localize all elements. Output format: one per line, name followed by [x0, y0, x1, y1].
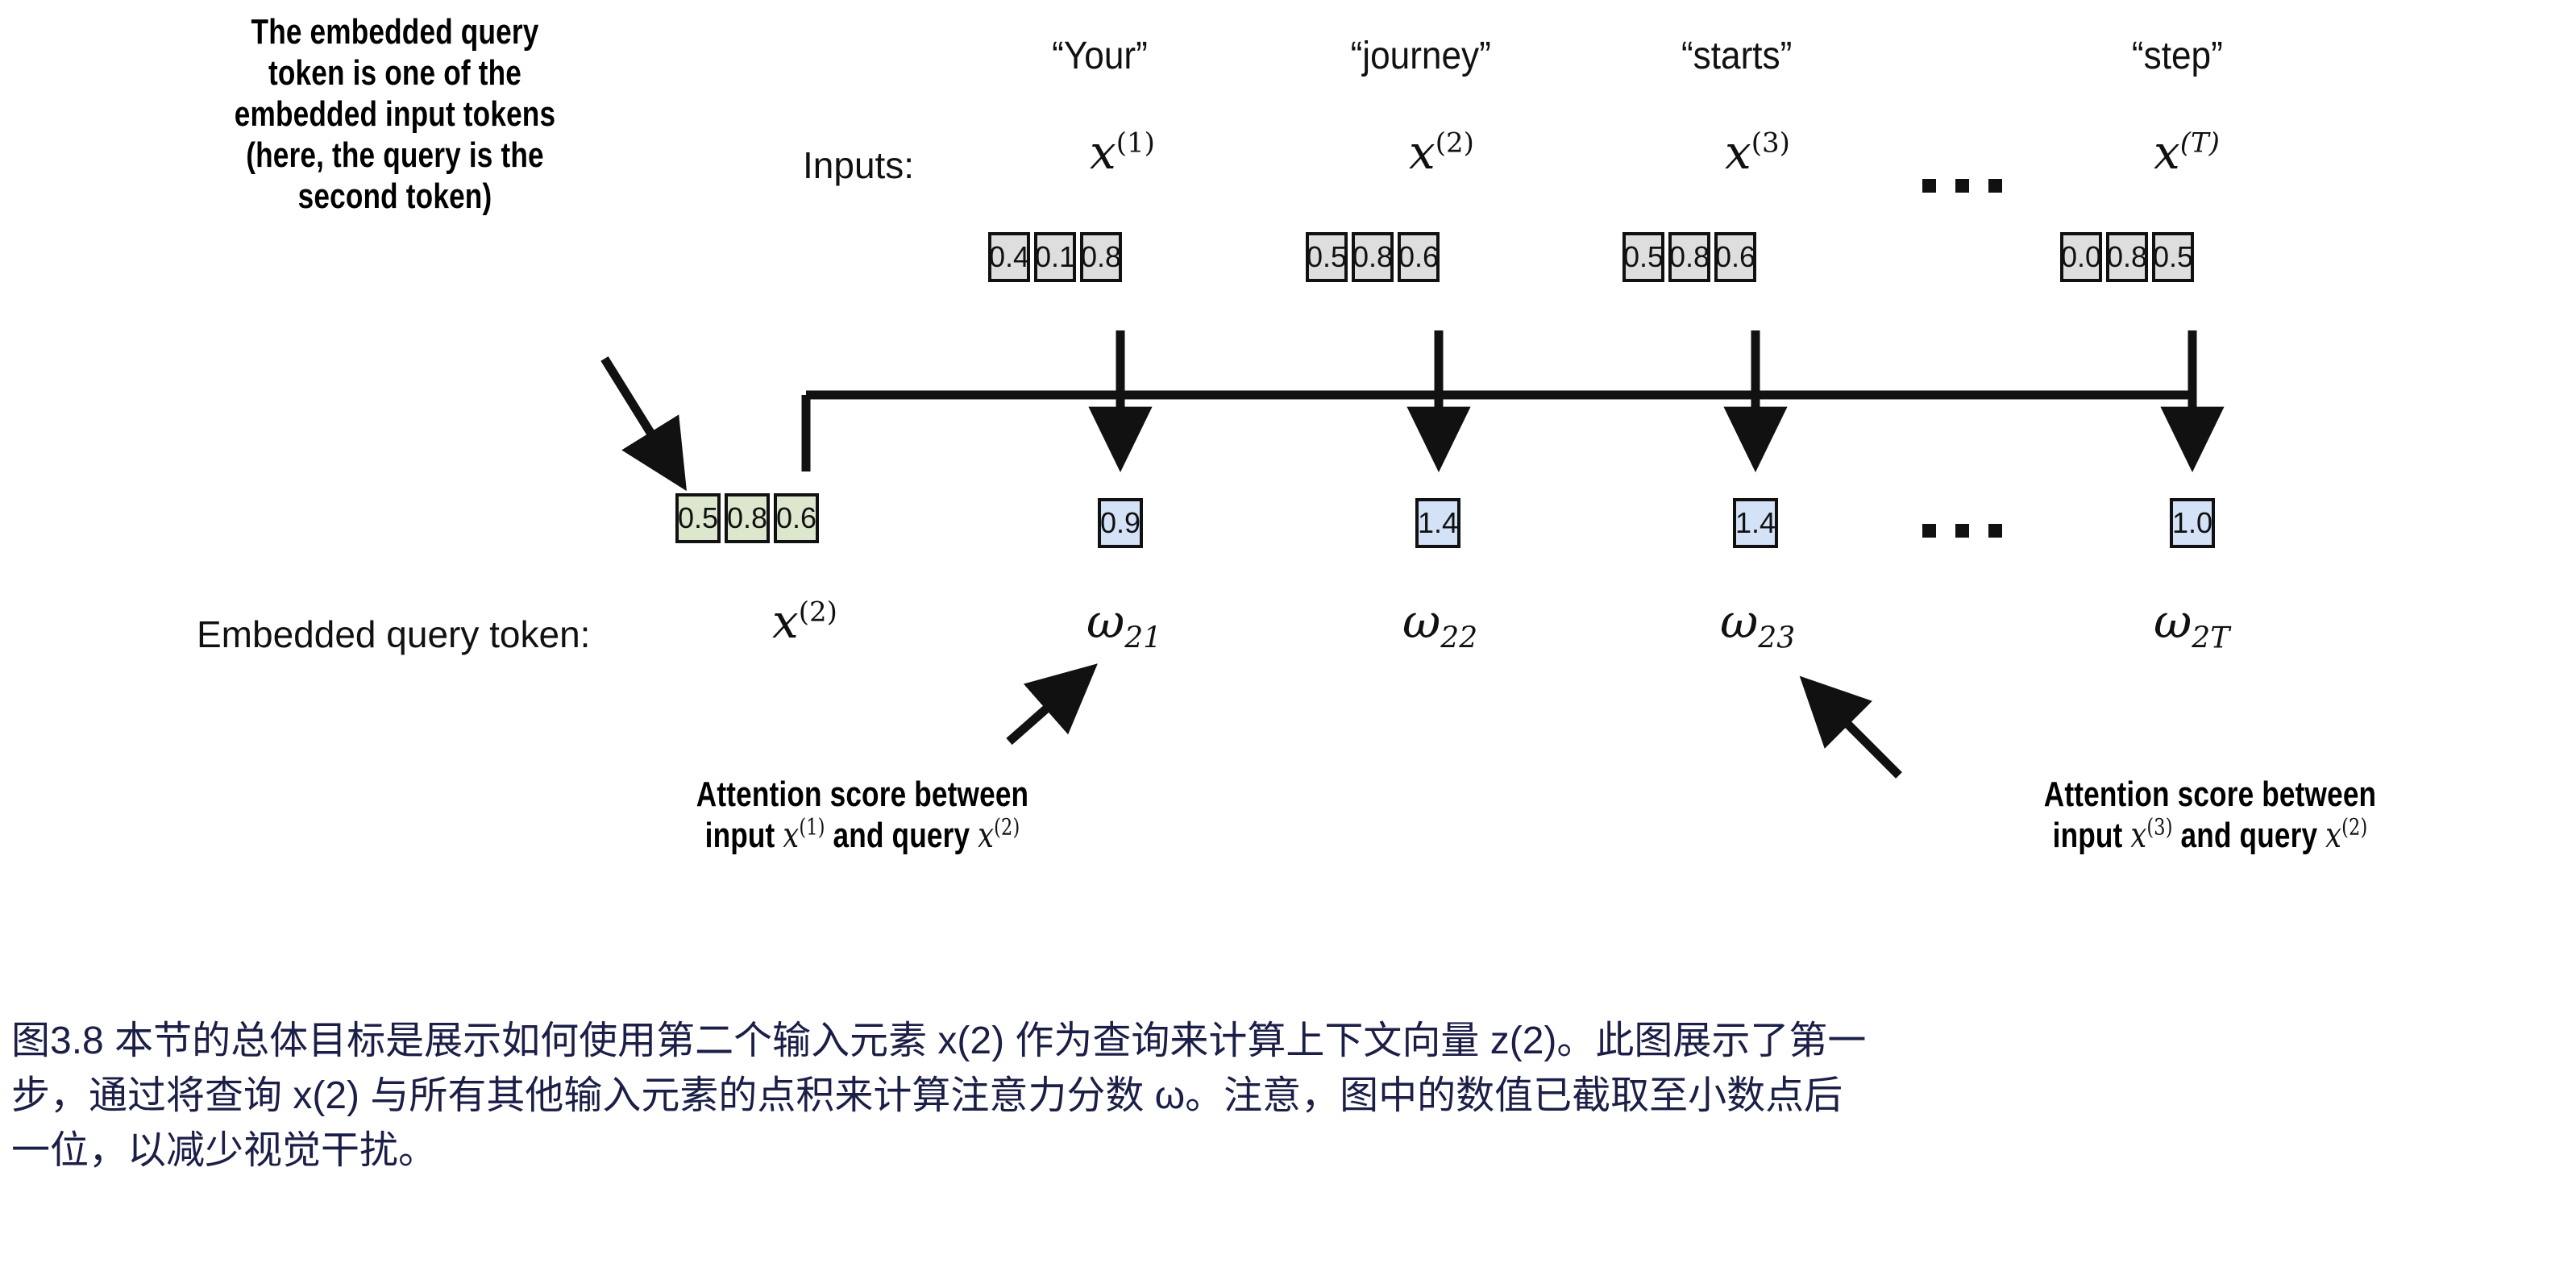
- input-symbol-4: x(T): [2154, 129, 2220, 176]
- query-vector: 0.5 0.8 0.6: [675, 493, 819, 543]
- callout-score-left-line-2: input x(1) and query x(2): [617, 815, 1107, 856]
- score-symbol-1-sub: 21: [1124, 622, 1161, 655]
- caption-line-2: 步，通过将查询 x(2) 与所有其他输入元素的点积来计算注意力分数 ω。注意，图…: [11, 1069, 2566, 1124]
- score-left-note-arrow: [1009, 671, 1090, 742]
- callout-score-right-line-2: input x(3) and query x(2): [1939, 815, 2481, 856]
- callout-query-note: The embedded query token is one of the e…: [53, 11, 737, 217]
- figure-caption: 图3.8 本节的总体目标是展示如何使用第二个输入元素 x(2) 作为查询来计算上…: [11, 1014, 2566, 1178]
- callout-score-left-x1: x(1): [783, 815, 825, 856]
- callout-score-right-mid: and query: [2173, 816, 2326, 855]
- score-symbol-2-sub: 22: [1440, 622, 1477, 655]
- score-symbol-4: ω2T: [2154, 598, 2229, 654]
- figure-canvas: The embedded query token is one of the e…: [0, 0, 2576, 1267]
- input-cell: 0.0: [2060, 232, 2102, 282]
- callout-score-right-line-1: Attention score between: [1939, 774, 2481, 815]
- input-symbol-2-base: x: [1409, 125, 1435, 180]
- input-symbol-4-sup-text: (T): [2180, 127, 2220, 160]
- callout-score-left-x2: x(2): [978, 815, 1020, 856]
- input-cell: 0.1: [1034, 232, 1076, 282]
- score-cell: 1.4: [1733, 498, 1778, 548]
- score-cell: 1.4: [1415, 498, 1460, 548]
- ellipsis-dot: [1988, 179, 2002, 193]
- score-symbol-2-base: ω: [1402, 594, 1440, 649]
- callout-score-left-pre: input: [705, 816, 783, 855]
- callout-query-note-line-5: second token): [53, 176, 737, 217]
- input-word-1: “Your”: [1052, 34, 1148, 78]
- input-vector-4: 0.0 0.8 0.5: [2060, 232, 2194, 282]
- query-note-arrow: [605, 359, 681, 482]
- input-symbol-1: x(1): [1090, 129, 1155, 176]
- input-symbol-4-sup: (T): [2180, 127, 2220, 160]
- input-symbol-2: x(2): [1409, 129, 1474, 176]
- score-symbol-1-base: ω: [1086, 594, 1124, 649]
- input-cell: 0.6: [1398, 232, 1440, 282]
- input-cell: 0.8: [1080, 232, 1122, 282]
- input-vector-2: 0.5 0.8 0.6: [1306, 232, 1440, 282]
- score-right-note-arrow: [1807, 683, 1899, 775]
- query-cell: 0.8: [725, 493, 770, 543]
- callout-score-right-x2: x(2): [2325, 815, 2367, 856]
- input-cell: 0.5: [1306, 232, 1348, 282]
- callout-score-right-x2-base: x: [2325, 815, 2341, 856]
- input-cell: 0.8: [1668, 232, 1710, 282]
- input-symbol-3: x(3): [1725, 129, 1790, 176]
- callout-query-note-line-2: token is one of the: [53, 52, 737, 93]
- input-word-4: “step”: [2132, 34, 2223, 78]
- caption-line-3: 一位，以减少视觉干扰。: [11, 1124, 2566, 1178]
- callout-score-right-x1-sup: (3): [2146, 813, 2172, 840]
- callout-score-right-x1: x(3): [2130, 815, 2172, 856]
- query-symbol-base: x: [772, 594, 799, 649]
- score-symbol-2: ω22: [1402, 598, 1477, 654]
- score-cell: 1.0: [2170, 498, 2215, 548]
- query-cell: 0.6: [774, 493, 819, 543]
- callout-score-right-x2-sup: (2): [2341, 813, 2367, 840]
- callout-score-left-x1-base: x: [783, 815, 799, 856]
- score-symbol-4-sub: 2T: [2192, 622, 2229, 655]
- caption-line-1: 图3.8 本节的总体目标是展示如何使用第二个输入元素 x(2) 作为查询来计算上…: [11, 1014, 2566, 1069]
- input-vector-3: 0.5 0.8 0.6: [1622, 232, 1756, 282]
- score-box-4: 1.0: [2170, 498, 2215, 548]
- score-box-3: 1.4: [1733, 498, 1778, 548]
- input-to-score-arrows: [1120, 330, 2192, 463]
- score-symbol-3: ω23: [1720, 598, 1795, 654]
- query-cell: 0.5: [675, 493, 721, 543]
- query-symbol: x(2): [772, 598, 837, 645]
- distribution-bus: [806, 395, 2192, 471]
- input-cell: 0.5: [1622, 232, 1664, 282]
- input-cell: 0.5: [2152, 232, 2194, 282]
- scores-ellipsis: [1922, 524, 2002, 538]
- callout-query-note-line-4: (here, the query is the: [53, 135, 737, 176]
- score-symbol-1: ω21: [1086, 598, 1161, 654]
- score-box-1: 0.9: [1098, 498, 1143, 548]
- input-vector-1: 0.4 0.1 0.8: [988, 232, 1122, 282]
- inputs-label: Inputs:: [803, 143, 914, 187]
- score-symbol-3-base: ω: [1720, 594, 1758, 649]
- callout-score-left-line-1: Attention score between: [617, 774, 1107, 815]
- embedded-query-token-label: Embedded query token:: [197, 613, 590, 656]
- callout-score-left-x2-base: x: [978, 815, 994, 856]
- ellipsis-dot: [1988, 524, 2002, 538]
- score-box-2: 1.4: [1415, 498, 1460, 548]
- callout-query-note-line-3: embedded input tokens: [53, 93, 737, 135]
- input-word-2: “journey”: [1351, 34, 1491, 78]
- query-symbol-sup: (2): [799, 596, 837, 629]
- input-symbol-1-sup: (1): [1116, 127, 1155, 160]
- input-symbol-3-sup: (3): [1751, 127, 1790, 160]
- input-symbol-3-base: x: [1725, 125, 1751, 180]
- callout-query-note-line-1: The embedded query: [53, 11, 737, 52]
- callout-score-left: Attention score between input x(1) and q…: [617, 774, 1107, 856]
- input-symbol-4-base: x: [2154, 125, 2180, 180]
- callout-score-left-x1-sup: (1): [799, 813, 825, 840]
- ellipsis-dot: [1922, 179, 1936, 193]
- input-symbol-1-base: x: [1090, 125, 1116, 180]
- callout-score-right-x1-base: x: [2130, 815, 2146, 856]
- ellipsis-dot: [1955, 179, 1969, 193]
- input-symbol-2-sup: (2): [1435, 127, 1474, 160]
- score-cell: 0.9: [1098, 498, 1143, 548]
- score-symbol-4-base: ω: [2154, 594, 2192, 649]
- callout-score-left-x2-sup: (2): [994, 813, 1020, 840]
- callout-score-right: Attention score between input x(3) and q…: [1939, 774, 2481, 856]
- callout-score-right-pre: input: [2053, 816, 2131, 855]
- ellipsis-dot: [1955, 524, 1969, 538]
- ellipsis-dot: [1922, 524, 1936, 538]
- score-symbol-3-sub: 23: [1758, 622, 1795, 655]
- inputs-ellipsis: [1922, 179, 2002, 193]
- input-word-3: “starts”: [1681, 34, 1792, 78]
- callout-score-left-mid: and query: [825, 816, 978, 855]
- input-cell: 0.4: [988, 232, 1030, 282]
- input-cell: 0.6: [1714, 232, 1756, 282]
- input-cell: 0.8: [2106, 232, 2148, 282]
- input-cell: 0.8: [1352, 232, 1394, 282]
